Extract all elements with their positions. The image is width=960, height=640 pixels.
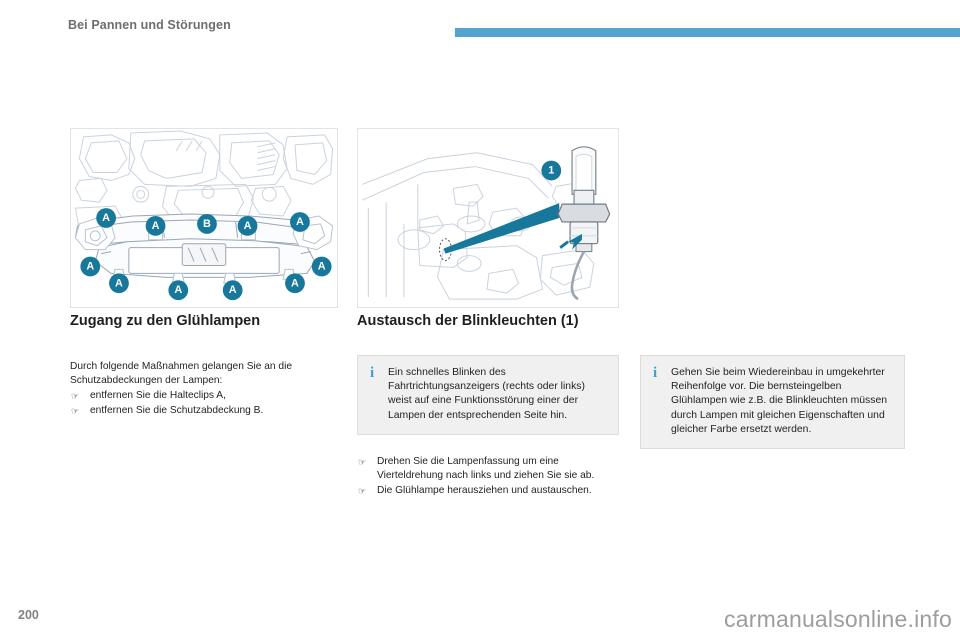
svg-text:1: 1 bbox=[548, 165, 554, 177]
info-box-right: i Gehen Sie beim Wiedereinbau in umgekeh… bbox=[640, 355, 905, 449]
svg-text:A: A bbox=[318, 260, 326, 272]
list-item-label: entfernen Sie die Halteclips A, bbox=[90, 390, 226, 401]
hand-pointer-icon: ☞ bbox=[71, 390, 79, 402]
list-item-label: Drehen Sie die Lampenfassung um eine Vie… bbox=[377, 456, 594, 481]
svg-text:A: A bbox=[296, 216, 304, 228]
svg-text:A: A bbox=[174, 284, 182, 296]
svg-text:A: A bbox=[86, 260, 94, 272]
bulb-replacement-figure: 1 bbox=[357, 128, 619, 308]
section-title-middle: Austausch der Blinkleuchten (1) bbox=[357, 313, 579, 329]
info-box-text: Ein schnelles Blinken des Fahrtrichtungs… bbox=[388, 366, 606, 423]
list-item-label: Die Glühlampe herausziehen und austausch… bbox=[377, 485, 592, 496]
svg-text:A: A bbox=[291, 277, 299, 289]
svg-text:A: A bbox=[152, 220, 160, 232]
section-title-left: Zugang zu den Glühlampen bbox=[70, 313, 260, 329]
left-step-list: ☞ entfernen Sie die Halteclips A, ☞ entf… bbox=[70, 389, 332, 419]
list-item-label: entfernen Sie die Schutzabdeckung B. bbox=[90, 405, 263, 416]
page-number: 200 bbox=[18, 608, 39, 622]
engine-bay-figure: A A B A A A A A A A A bbox=[70, 128, 338, 308]
hand-pointer-icon: ☞ bbox=[358, 485, 366, 497]
info-box-text: Gehen Sie beim Wiedereinbau in umgekehrt… bbox=[671, 366, 892, 437]
manual-page: Bei Pannen und Störungen bbox=[0, 0, 960, 640]
list-item: ☞ entfernen Sie die Schutzabdeckung B. bbox=[70, 404, 332, 418]
list-item: ☞ Die Glühlampe herausziehen und austaus… bbox=[357, 484, 619, 498]
svg-text:B: B bbox=[203, 218, 211, 230]
hand-pointer-icon: ☞ bbox=[358, 456, 366, 468]
header-accent-rule bbox=[455, 28, 960, 37]
list-item: ☞ Drehen Sie die Lampenfassung um eine V… bbox=[357, 455, 619, 483]
list-item: ☞ entfernen Sie die Halteclips A, bbox=[70, 389, 332, 403]
middle-step-list: ☞ Drehen Sie die Lampenfassung um eine V… bbox=[357, 455, 619, 499]
svg-text:A: A bbox=[244, 220, 252, 232]
info-icon: i bbox=[653, 366, 661, 437]
header-chapter-title: Bei Pannen und Störungen bbox=[68, 18, 231, 32]
info-icon: i bbox=[370, 366, 378, 423]
left-intro-text: Durch folgende Maßnahmen gelangen Sie an… bbox=[70, 360, 332, 388]
hand-pointer-icon: ☞ bbox=[71, 405, 79, 417]
info-box-middle: i Ein schnelles Blinken des Fahrtrichtun… bbox=[357, 355, 619, 435]
svg-text:A: A bbox=[229, 284, 237, 296]
page-header: Bei Pannen und Störungen bbox=[0, 18, 960, 40]
svg-text:A: A bbox=[102, 212, 110, 224]
svg-text:A: A bbox=[115, 277, 123, 289]
site-watermark: carmanualsonline.info bbox=[724, 606, 952, 633]
